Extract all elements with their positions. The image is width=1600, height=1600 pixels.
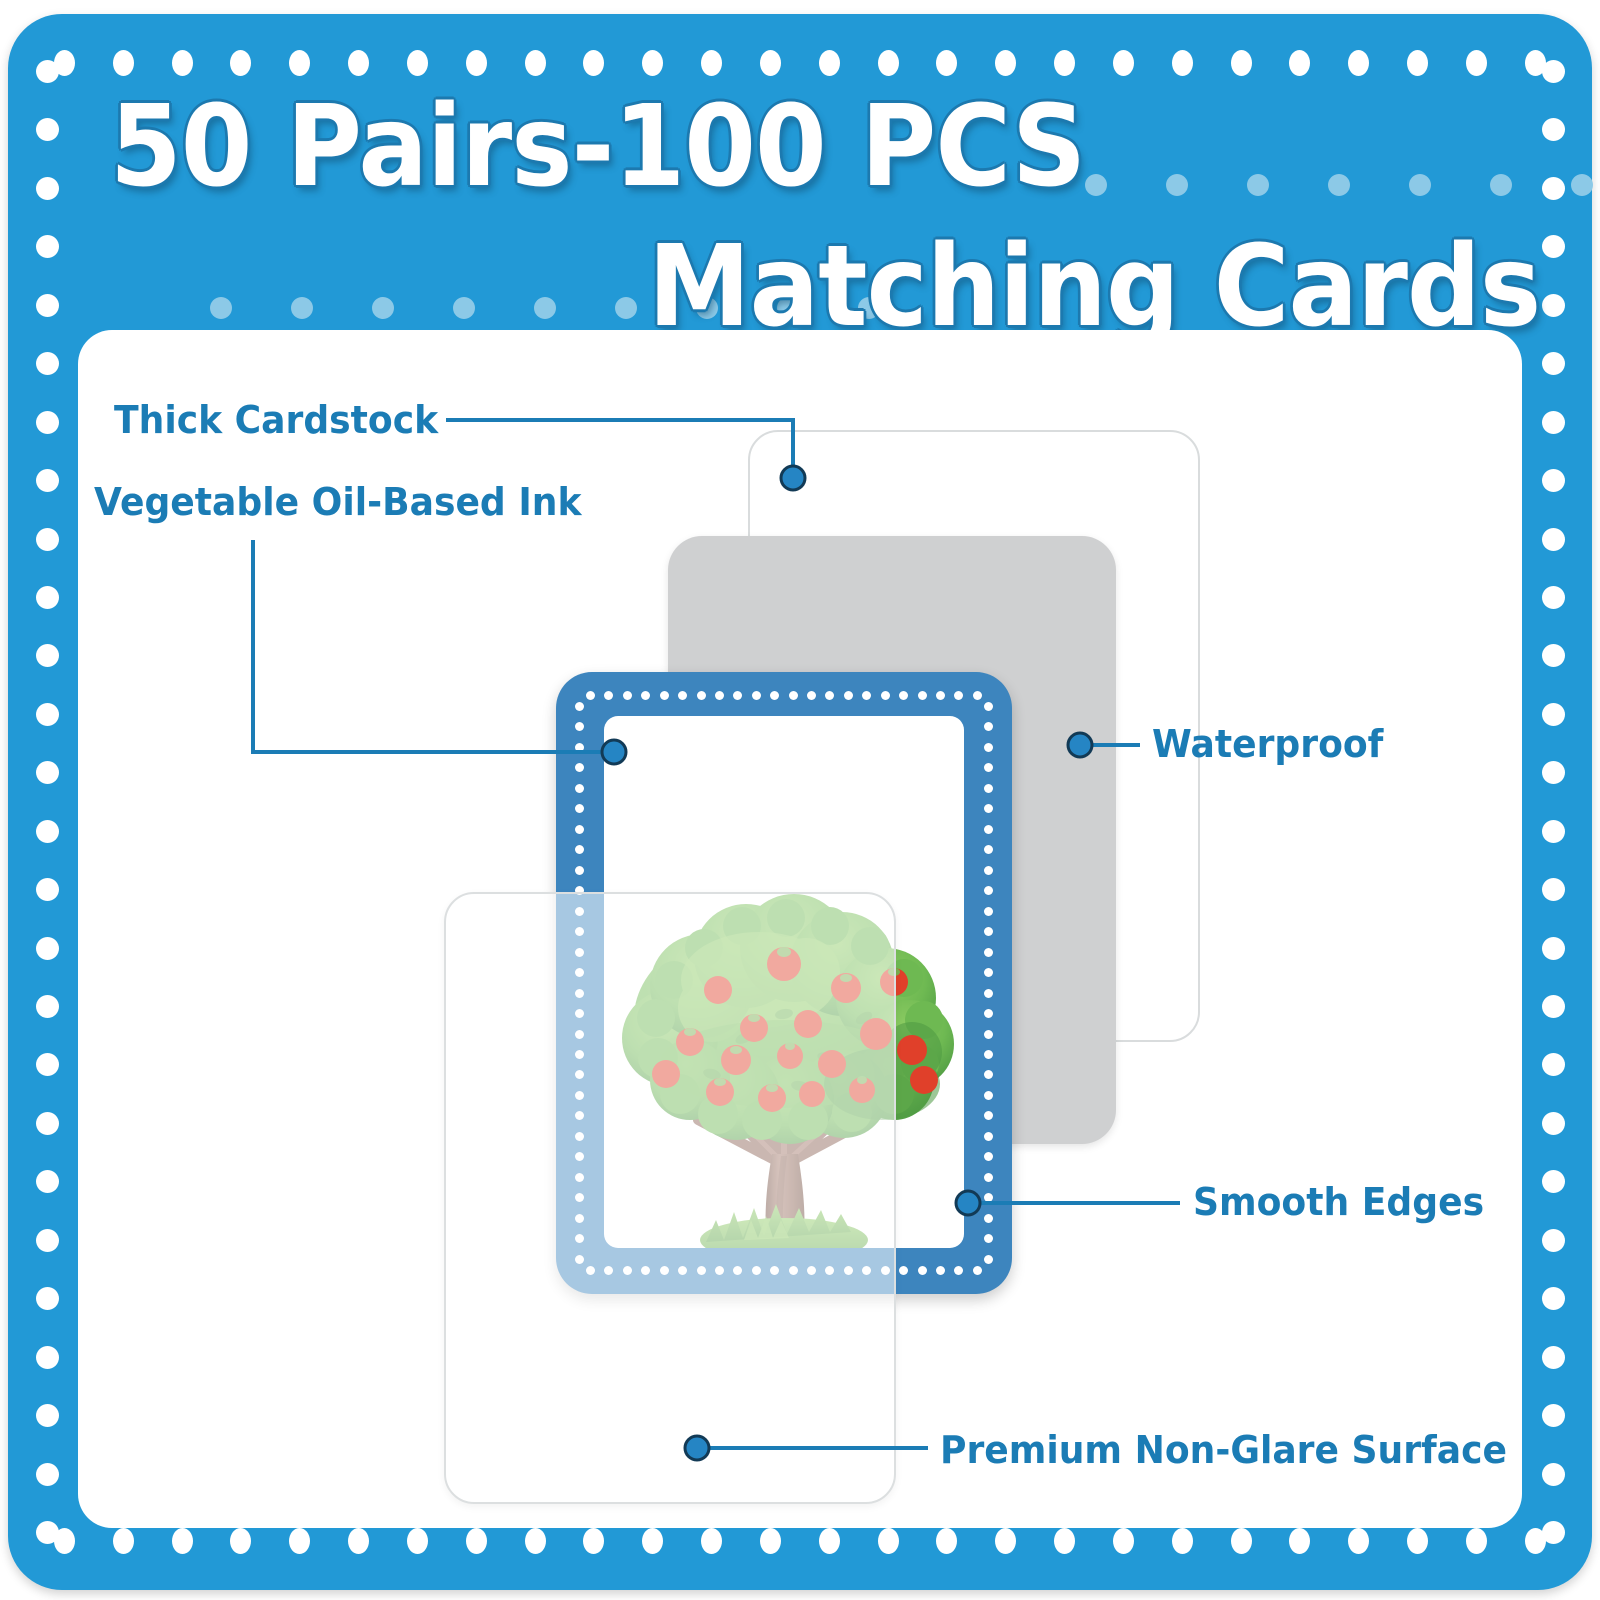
card-border-dot [984,804,993,813]
perforation-dot [36,352,59,375]
frame-dots-left [34,60,60,1544]
perforation-dot [230,1528,251,1554]
perforation-dot [1542,995,1565,1018]
perforation-dot [1113,1528,1134,1554]
card-border-dot [899,691,908,700]
card-border-dot [984,1009,993,1018]
perforation-dot [1172,1528,1193,1554]
perforation-dot [36,1463,59,1486]
card-border-dot [575,743,584,752]
card-border-dot [984,1255,993,1264]
perforation-dot [1542,1521,1565,1544]
card-border-dot [770,691,779,700]
card-border-dot [984,1091,993,1100]
perforation-dot [36,235,59,258]
perforation-dot [525,1528,546,1554]
card-border-dot [984,763,993,772]
perforation-dot [819,1528,840,1554]
perforation-dot [1542,878,1565,901]
perforation-dot [36,1346,59,1369]
perforation-dot [36,60,59,83]
perforation-dot [36,118,59,141]
callout-label-smooth-edges: Smooth Edges [1193,1180,1484,1224]
card-border-dot [752,691,761,700]
card-border-dot [844,691,853,700]
header-decor-dot [1571,174,1593,196]
perforation-dot [1542,469,1565,492]
perforation-dot [36,878,59,901]
perforation-dot [878,1528,899,1554]
perforation-dot [936,1528,957,1554]
perforation-dot [36,995,59,1018]
header-decor-dot [453,297,475,319]
card-border-dot [984,948,993,957]
card-border-dot [575,804,584,813]
card-border-dot [984,722,993,731]
perforation-dot [1054,1528,1075,1554]
card-border-dot [984,1030,993,1039]
perforation-dot [289,1528,310,1554]
perforation-dot [466,1528,487,1554]
perforation-dot [1542,1053,1565,1076]
perforation-dot [1348,1528,1369,1554]
header-decor-dot [1247,174,1269,196]
card-border-dot [984,784,993,793]
card-border-dot [954,691,963,700]
header-decor-dot [372,297,394,319]
card-border-dot [825,691,834,700]
card-border-dot [807,691,816,700]
card-border-dot [918,691,927,700]
card-border-dot [984,1234,993,1243]
perforation-dot [1542,352,1565,375]
perforation-dot [642,1528,663,1554]
perforation-dot [36,177,59,200]
card-border-dot [641,691,650,700]
card-border-dot [575,825,584,834]
perforation-dot [1542,1112,1565,1135]
header-decor-dot [534,297,556,319]
perforation-dot [1542,411,1565,434]
perforation-dot [36,1287,59,1310]
perforation-dot [1542,294,1565,317]
callout-label-vegetable-oil-ink: Vegetable Oil-Based Ink [94,480,581,524]
perforation-dot [583,1528,604,1554]
perforation-dot [348,1528,369,1554]
card-border-dot [984,845,993,854]
perforation-dot [1542,1463,1565,1486]
frame-dots-bottom [54,1528,1546,1554]
card-border-dot [984,702,993,711]
card-border-dot [936,691,945,700]
header-decor-dot [1409,174,1431,196]
card-border-dot [697,691,706,700]
perforation-dot [1289,1528,1310,1554]
card-border-dot [984,743,993,752]
card-border-dot [973,1266,982,1275]
card-border-dot [575,763,584,772]
perforation-dot [36,528,59,551]
perforation-dot [1542,937,1565,960]
perforation-dot [760,1528,781,1554]
perforation-dot [36,1521,59,1544]
perforation-dot [113,1528,134,1554]
card-border-dot [733,691,742,700]
card-border-dot [660,691,669,700]
perforation-dot [1542,528,1565,551]
card-border-dot [575,866,584,875]
header: 50 Pairs-100 PCS Matching Cards [70,52,1530,322]
perforation-dot [1542,118,1565,141]
perforation-dot [1542,703,1565,726]
perforation-dot [1542,1346,1565,1369]
perforation-dot [1542,1287,1565,1310]
perforation-dot [1542,235,1565,258]
card-border-dot [984,927,993,936]
header-decor-dot [1490,174,1512,196]
perforation-dot [36,703,59,726]
card-border-dot [575,722,584,731]
perforation-dot [36,1229,59,1252]
header-decor-dot [291,297,313,319]
perforation-dot [36,644,59,667]
perforation-dot [1542,1404,1565,1427]
header-decor-dots-row-1 [1085,174,1600,196]
product-infographic: 50 Pairs-100 PCS Matching Cards [0,0,1600,1600]
perforation-dot [36,937,59,960]
perforation-dot [36,1112,59,1135]
card-border-dot [789,691,798,700]
perforation-dot [1407,1528,1428,1554]
header-decor-dot [1328,174,1350,196]
card-border-dot [678,691,687,700]
perforation-dot [995,1528,1016,1554]
page-title-line-1: 50 Pairs-100 PCS [110,82,1085,212]
card-border-dot [984,1173,993,1182]
perforation-dot [36,586,59,609]
card-border-dot [984,989,993,998]
card-border-dot [984,1152,993,1161]
card-border-dot [984,825,993,834]
perforation-dot [36,469,59,492]
perforation-dot [36,761,59,784]
callout-label-thick-cardstock: Thick Cardstock [114,398,438,442]
card-border-dot [984,1214,993,1223]
perforation-dot [407,1528,428,1554]
card-border-dot [936,1266,945,1275]
perforation-dot [1542,820,1565,843]
card-border-dot [984,1050,993,1059]
perforation-dot [36,1404,59,1427]
header-decor-dot [1085,174,1107,196]
perforation-dot [36,1053,59,1076]
card-border-dot [984,886,993,895]
card-border-dot [973,691,982,700]
card-border-dot [899,1266,908,1275]
card-border-dot [575,784,584,793]
perforation-dot [1231,1528,1252,1554]
perforation-dot [36,411,59,434]
perforation-dot [1542,644,1565,667]
header-decor-dot [1166,174,1188,196]
card-border-dot [586,691,595,700]
card-border-dot [984,1193,993,1202]
header-decor-dot [615,297,637,319]
perforation-dot [1466,1528,1487,1554]
frame-dots-right [1540,60,1566,1544]
card-border-dot [623,691,632,700]
card-border-dot [954,1266,963,1275]
perforation-dot [1542,1170,1565,1193]
card-border-dot [575,845,584,854]
card-border-dot [984,1132,993,1141]
card-border-dot [984,968,993,977]
perforation-dot [172,1528,193,1554]
card-border-dot [918,1266,927,1275]
perforation-dot [1542,60,1565,83]
card-border-dot [881,691,890,700]
card-border-dot [984,1111,993,1120]
perforation-dot [1542,1229,1565,1252]
perforation-dot [701,1528,722,1554]
perforation-dot [36,1170,59,1193]
card-glass-front [444,892,896,1504]
perforation-dot [36,820,59,843]
card-dots-top [586,691,982,700]
perforation-dot [1542,586,1565,609]
card-border-dot [604,691,613,700]
card-border-dot [984,866,993,875]
card-border-dot [984,907,993,916]
callout-label-waterproof: Waterproof [1152,722,1383,766]
card-border-dot [575,702,584,711]
callout-label-premium-non-glare: Premium Non-Glare Surface [940,1428,1507,1472]
card-border-dot [715,691,724,700]
perforation-dot [36,294,59,317]
card-border-dot [984,1070,993,1079]
perforation-dot [1542,761,1565,784]
header-decor-dot [210,297,232,319]
card-dots-right [984,702,993,1264]
card-border-dot [862,691,871,700]
